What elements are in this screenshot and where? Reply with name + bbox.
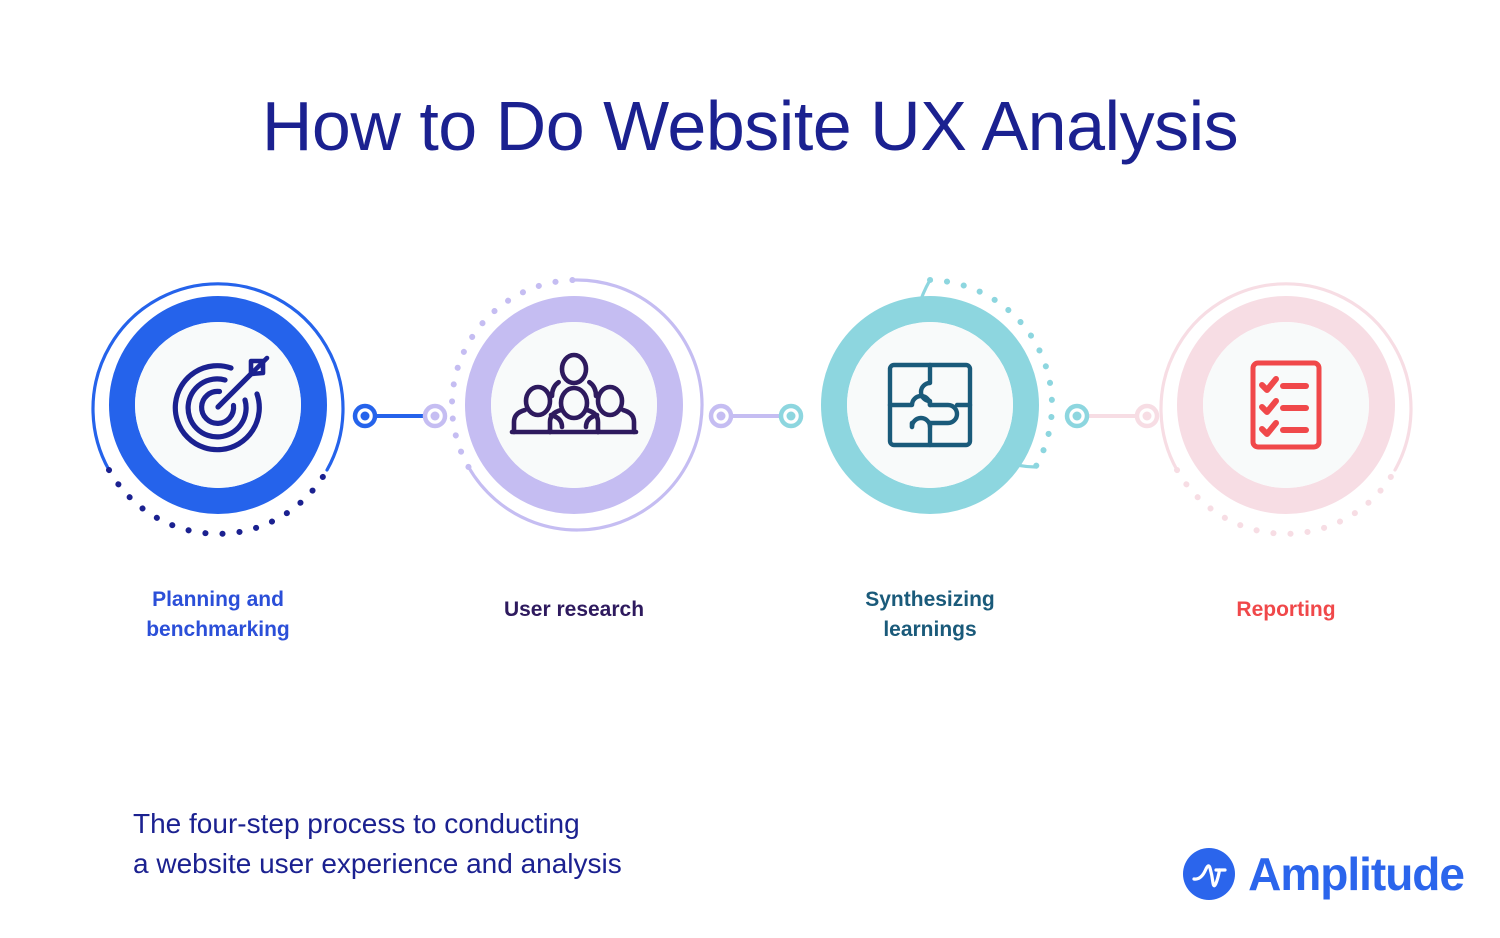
step-node-2[interactable]: User research	[424, 255, 724, 555]
connector-3-4-left-dot	[1073, 412, 1082, 421]
amplitude-logo-icon	[1183, 848, 1235, 900]
caption-line-2: a website user experience and analysis	[133, 844, 622, 884]
brand-logo[interactable]: Amplitude	[1183, 848, 1464, 900]
step-4-label-line1: Reporting	[1076, 595, 1496, 625]
steps-row: Planning and benchmarking	[0, 255, 1500, 675]
page-title: How to Do Website UX Analysis	[0, 86, 1500, 166]
step-node-1[interactable]: Planning and benchmarking	[68, 255, 368, 555]
step-4-circle-graphic	[1136, 255, 1436, 555]
infographic-canvas: How to Do Website UX Analysis	[0, 0, 1500, 938]
brand-name: Amplitude	[1248, 851, 1464, 897]
caption: The four-step process to conducting a we…	[133, 804, 622, 884]
step-1-circle-graphic	[68, 255, 368, 555]
step-node-3[interactable]: Synthesizing learnings	[780, 255, 1080, 555]
step-2-inner-fill	[491, 322, 657, 488]
connector-2-3-left-dot	[717, 412, 726, 421]
step-3-circle-graphic	[780, 255, 1080, 555]
step-node-4[interactable]: Reporting	[1136, 255, 1436, 555]
step-4-label: Reporting	[1076, 595, 1496, 625]
connector-1-2-left-dot	[361, 412, 370, 421]
step-2-circle-graphic	[424, 255, 724, 555]
caption-line-1: The four-step process to conducting	[133, 804, 622, 844]
